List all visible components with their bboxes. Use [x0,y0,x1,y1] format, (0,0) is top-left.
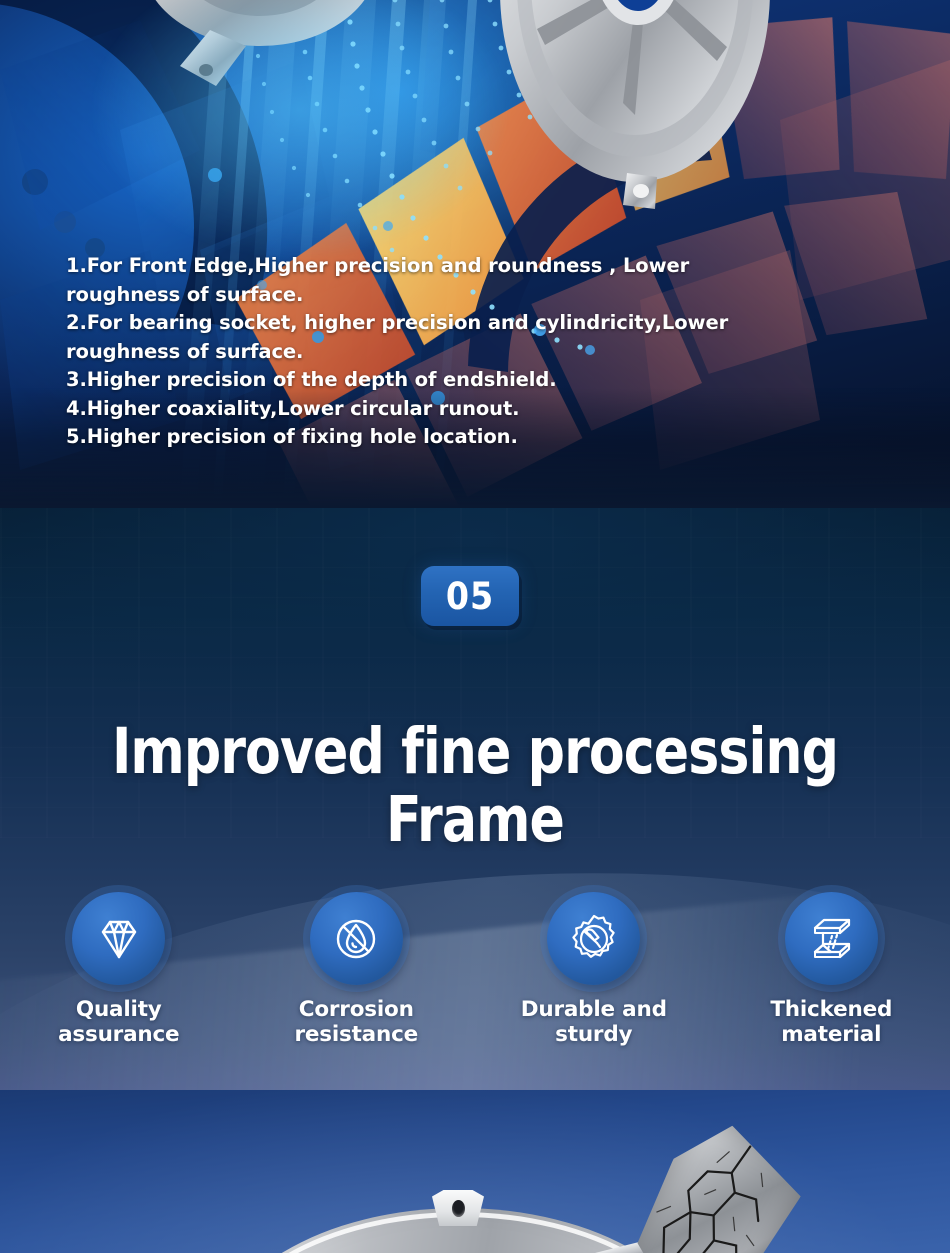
feature-icon-circle [785,892,878,985]
diamond-icon [93,913,145,965]
i-beam-icon [804,912,858,966]
step-number-label: 05 [446,578,494,615]
lug-bolt-hole [452,1200,465,1217]
feature-label: Durable and sturdy [521,997,667,1047]
spec-list: 1.For Front Edge,Higher precision and ro… [66,252,746,452]
feature-item[interactable]: Thickened material [713,892,950,1047]
top-banner: 1.For Front Edge,Higher precision and ro… [0,0,950,508]
gear-hammer-icon [567,912,621,966]
feature-item[interactable]: Durable and sturdy [475,892,713,1047]
step-number-badge: 05 [421,566,519,626]
feature-icon-circle [72,892,165,985]
feature-item[interactable]: Quality assurance [0,892,238,1047]
feature-icon-circle [547,892,640,985]
feature-label: Corrosion resistance [294,997,418,1047]
no-water-drop-icon [330,913,382,965]
feature-icon-row: Quality assurance Corrosion resistance [0,892,950,1047]
feature-icon-circle [310,892,403,985]
feature-item[interactable]: Corrosion resistance [238,892,476,1047]
feature-label: Thickened material [770,997,892,1047]
bottom-product-photo [0,1090,950,1253]
feature-label: Quality assurance [58,997,179,1047]
product-detail-page: 1.For Front Edge,Higher precision and ro… [0,0,950,1253]
section-headline: Improved fine processing Frame [38,718,912,854]
